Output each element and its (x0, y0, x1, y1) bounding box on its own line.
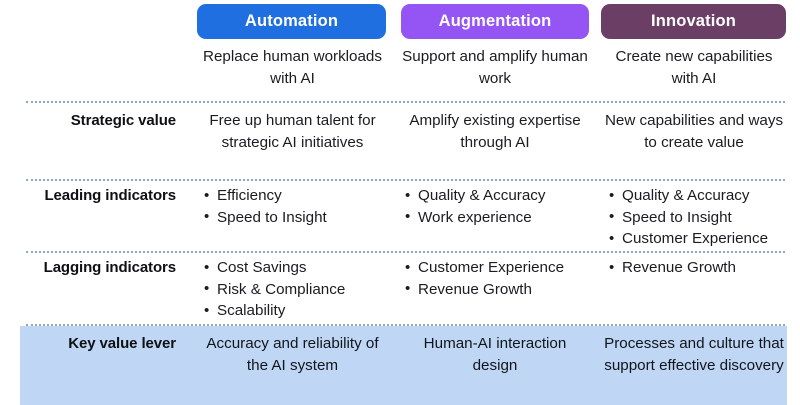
cell-strategic-innovation: New capabilities and ways to create valu… (595, 110, 795, 176)
column-header-augmentation[interactable]: Augmentation (401, 4, 589, 39)
header-cell-automation: Automation (190, 4, 395, 39)
cell-leading-automation: EfficiencySpeed to Insight (190, 185, 395, 247)
table-header-row: Automation Augmentation Innovation (0, 3, 800, 39)
bullet-item: Efficiency (204, 185, 387, 207)
row-label-cell: Key value lever (0, 333, 190, 403)
row-divider (26, 179, 785, 181)
header-cell-innovation: Innovation (595, 4, 795, 39)
bullet-item: Speed to Insight (609, 207, 787, 229)
subtitle-label-spacer (0, 46, 190, 98)
subtitle-cell-automation: Replace human workloads with AI (190, 46, 395, 98)
cell-lagging-augmentation: Customer ExperienceRevenue Growth (395, 257, 595, 321)
cell-leading-augmentation: Quality & AccuracyWork experience (395, 185, 595, 247)
bullet-list: Cost SavingsRisk & ComplianceScalability (204, 257, 387, 322)
cell-strategic-automation: Free up human talent for strategic AI in… (190, 110, 395, 176)
table-subtitle-row: Replace human workloads with AI Support … (0, 46, 800, 98)
row-label-strategic-value: Strategic value (71, 112, 176, 129)
cell-text: Human-AI interaction design (401, 333, 589, 376)
row-label-cell: Leading indicators (0, 185, 190, 247)
bullet-item: Cost Savings (204, 257, 387, 279)
row-label-leading-indicators: Leading indicators (44, 187, 176, 204)
cell-keylever-automation: Accuracy and reliability of the AI syste… (190, 333, 395, 403)
bullet-item: Work experience (405, 207, 589, 229)
cell-text: Accuracy and reliability of the AI syste… (198, 333, 387, 376)
bullet-item: Risk & Compliance (204, 279, 387, 301)
bullet-item: Quality & Accuracy (405, 185, 589, 207)
subtitle-augmentation: Support and amplify human work (401, 46, 589, 89)
table-row: Key value lever Accuracy and reliability… (0, 333, 800, 403)
cell-text: Processes and culture that support effec… (601, 333, 787, 376)
row-divider (26, 101, 785, 103)
row-divider (26, 251, 785, 253)
column-header-automation[interactable]: Automation (197, 4, 386, 39)
column-header-innovation[interactable]: Innovation (601, 4, 786, 39)
bullet-item: Speed to Insight (204, 207, 387, 229)
cell-keylever-innovation: Processes and culture that support effec… (595, 333, 795, 403)
row-label-cell: Strategic value (0, 110, 190, 176)
header-cell-augmentation: Augmentation (395, 4, 595, 39)
bullet-item: Quality & Accuracy (609, 185, 787, 207)
cell-strategic-augmentation: Amplify existing expertise through AI (395, 110, 595, 176)
subtitle-innovation: Create new capabilities with AI (601, 46, 787, 89)
bullet-list: Quality & AccuracySpeed to InsightCustom… (609, 185, 787, 250)
bullet-item: Revenue Growth (609, 257, 787, 279)
cell-lagging-innovation: Revenue Growth (595, 257, 795, 321)
framework-table: Automation Augmentation Innovation Repla… (0, 0, 800, 405)
bullet-item: Scalability (204, 300, 387, 322)
table-row: Leading indicators EfficiencySpeed to In… (0, 185, 800, 247)
cell-leading-innovation: Quality & AccuracySpeed to InsightCustom… (595, 185, 795, 247)
bullet-item: Revenue Growth (405, 279, 589, 301)
row-label-cell: Lagging indicators (0, 257, 190, 321)
cell-text: Amplify existing expertise through AI (401, 110, 589, 153)
cell-text: New capabilities and ways to create valu… (601, 110, 787, 153)
subtitle-cell-innovation: Create new capabilities with AI (595, 46, 795, 98)
bullet-list: Customer ExperienceRevenue Growth (405, 257, 589, 300)
table-row: Strategic value Free up human talent for… (0, 110, 800, 176)
bullet-list: Revenue Growth (609, 257, 787, 279)
row-label-lagging-indicators: Lagging indicators (44, 259, 176, 276)
row-label-key-value-lever: Key value lever (68, 335, 176, 352)
bullet-item: Customer Experience (405, 257, 589, 279)
cell-lagging-automation: Cost SavingsRisk & ComplianceScalability (190, 257, 395, 321)
subtitle-automation: Replace human workloads with AI (198, 46, 387, 89)
table-row: Lagging indicators Cost SavingsRisk & Co… (0, 257, 800, 321)
cell-text: Free up human talent for strategic AI in… (198, 110, 387, 153)
bullet-list: Quality & AccuracyWork experience (405, 185, 589, 228)
bullet-item: Customer Experience (609, 228, 787, 250)
subtitle-cell-augmentation: Support and amplify human work (395, 46, 595, 98)
bullet-list: EfficiencySpeed to Insight (204, 185, 387, 228)
cell-keylever-augmentation: Human-AI interaction design (395, 333, 595, 403)
